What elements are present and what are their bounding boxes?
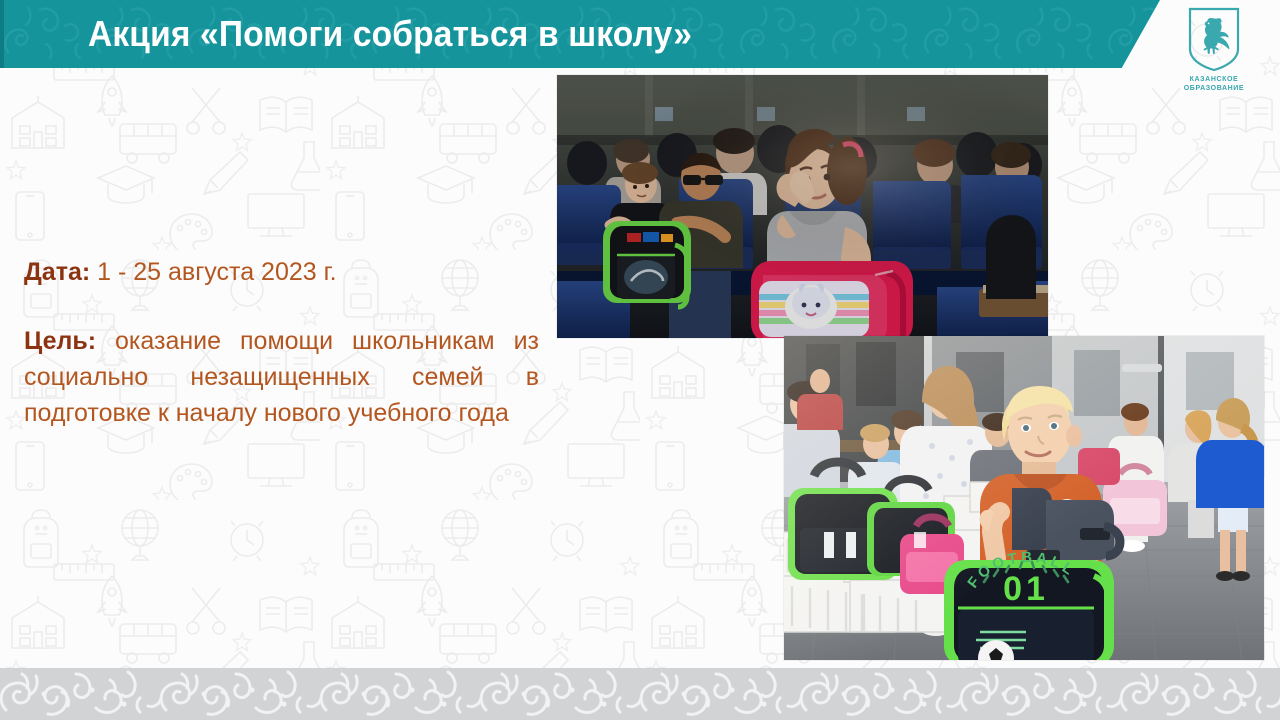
photo-boy-with-football-backpack: 01 FOOTBALL [784,336,1264,660]
logo-text: КАЗАНСКОЕ ОБРАЗОВАНИЕ [1166,75,1262,93]
goal-value: оказание помощи школьникам из социально … [24,327,539,427]
goal-label: Цель: [24,327,96,355]
kazan-zilant-crest-icon [1187,6,1241,72]
presentation-slide: Акция «Помоги собраться в школу» КАЗАНСК… [0,0,1280,720]
goal-line: Цель: оказание помощи школьникам из соци… [24,323,539,431]
logo-text-line2: ОБРАЗОВАНИЕ [1166,84,1262,93]
date-label: Дата: [24,258,90,286]
kazan-education-logo: КАЗАНСКОЕ ОБРАЗОВАНИЕ [1166,6,1262,93]
footer-ornament-band [0,668,1280,720]
logo-text-line1: КАЗАНСКОЕ [1166,75,1262,84]
date-line: Дата: 1 - 25 августа 2023 г. [24,255,539,289]
photo-auditorium-children-clapping [557,75,1048,338]
content-text-block: Дата: 1 - 25 августа 2023 г. Цель: оказа… [24,255,539,431]
page-title: Акция «Помоги собраться в школу» [88,12,692,56]
header-left-accent-bar [0,0,4,68]
date-value: 1 - 25 августа 2023 г. [90,258,336,286]
